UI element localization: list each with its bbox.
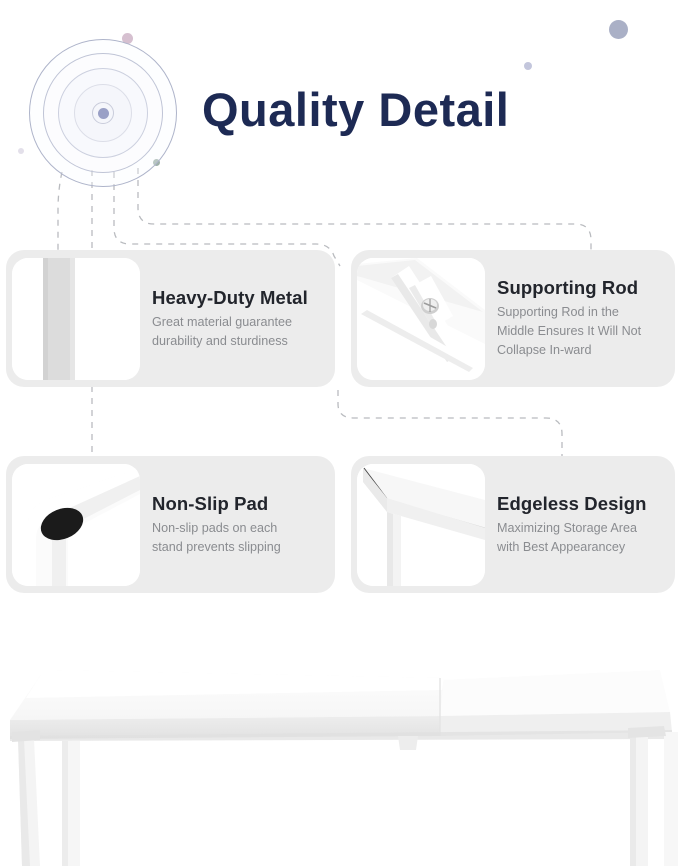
card-title: Non-Slip Pad	[152, 493, 327, 515]
card-desc-line: Collapse In-ward	[497, 341, 667, 360]
concentric-rings-hub	[28, 38, 178, 188]
card-text-block: Non-Slip Pad Non-slip pads on each stand…	[140, 493, 335, 557]
product-photo-extendable-desk	[0, 640, 679, 866]
card-desc-line: Great material guarantee	[152, 313, 327, 332]
dot-pale-left	[18, 148, 24, 154]
card-title: Supporting Rod	[497, 277, 667, 299]
feature-card-non-slip-pad: Non-Slip Pad Non-slip pads on each stand…	[6, 456, 335, 593]
dot-blue-top-right	[609, 20, 628, 39]
card-text-block: Edgeless Design Maximizing Storage Area …	[485, 493, 675, 557]
card-description: Non-slip pads on each stand prevents sli…	[152, 519, 327, 557]
feature-card-heavy-duty-metal: Heavy-Duty Metal Great material guarante…	[6, 250, 335, 387]
hub-center-dot	[98, 108, 109, 119]
thumbnail-table-corner-edge	[357, 464, 485, 586]
card-desc-line: with Best Appearancey	[497, 538, 667, 557]
card-description: Great material guarantee durability and …	[152, 313, 327, 351]
card-desc-line: Non-slip pads on each	[152, 519, 327, 538]
card-description: Supporting Rod in the Middle Ensures It …	[497, 303, 667, 360]
dot-lavender-small	[524, 62, 532, 70]
thumbnail-non-slip-foot-pad	[12, 464, 140, 586]
card-text-block: Heavy-Duty Metal Great material guarante…	[140, 287, 335, 351]
card-desc-line: durability and sturdiness	[152, 332, 327, 351]
card-text-block: Supporting Rod Supporting Rod in the Mid…	[485, 277, 675, 360]
page-title: Quality Detail	[202, 82, 509, 137]
thumbnail-supporting-rod-joint	[357, 258, 485, 380]
card-title: Heavy-Duty Metal	[152, 287, 327, 309]
feature-card-supporting-rod: Supporting Rod Supporting Rod in the Mid…	[351, 250, 675, 387]
thumbnail-vertical-metal-bar	[12, 258, 140, 380]
feature-card-edgeless-design: Edgeless Design Maximizing Storage Area …	[351, 456, 675, 593]
card-desc-line: stand prevents slipping	[152, 538, 327, 557]
card-desc-line: Middle Ensures It Will Not	[497, 322, 667, 341]
card-desc-line: Maximizing Storage Area	[497, 519, 667, 538]
card-desc-line: Supporting Rod in the	[497, 303, 667, 322]
card-title: Edgeless Design	[497, 493, 667, 515]
card-description: Maximizing Storage Area with Best Appear…	[497, 519, 667, 557]
